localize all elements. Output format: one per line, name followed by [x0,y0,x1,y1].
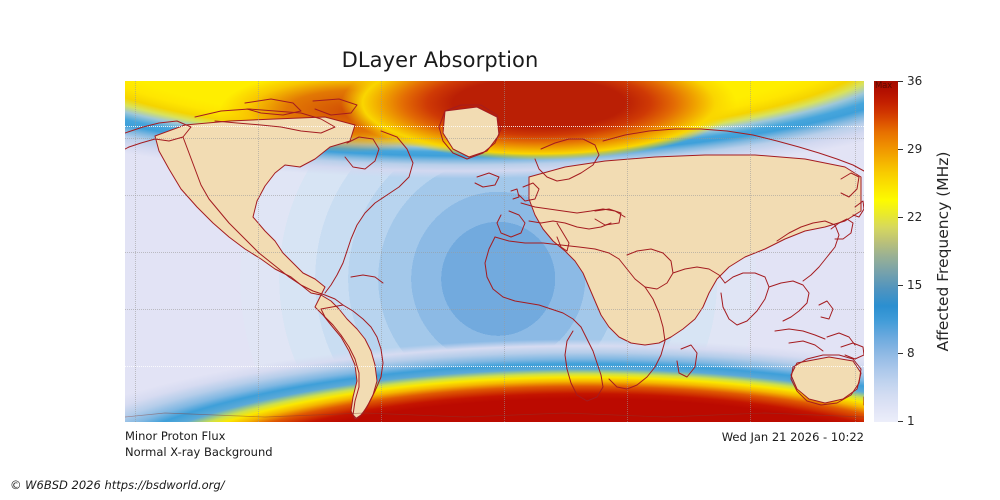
colorbar-gradient [874,81,898,422]
page-title: DLayer Absorption [0,48,880,72]
absorption-map[interactable] [125,81,864,422]
colorbar-tick-label: 22 [907,210,922,224]
colorbar-tick [898,81,903,82]
colorbar-tick-label: 15 [907,278,922,292]
copyright-notice: © W6BSD 2026 https://bsdworld.org/ [10,478,225,492]
coastlines [125,81,864,422]
colorbar-tick-label: 36 [907,74,922,88]
colorbar-axis-label: Affected Frequency (MHz) [930,81,956,422]
colorbar-tick-label: 1 [907,414,915,428]
colorbar-tick [898,285,903,286]
timestamp: Wed Jan 21 2026 - 10:22 [0,430,864,444]
colorbar-max-label: Max [875,82,892,91]
colorbar-tick-label: 8 [907,346,915,360]
xray-background-status: Normal X-ray Background [125,444,273,460]
colorbar-tick [898,353,903,354]
colorbar-tick [898,421,903,422]
colorbar-tick-label: 29 [907,142,922,156]
colorbar-tick [898,149,903,150]
colorbar-tick [898,217,903,218]
colorbar[interactable]: Max 36 29 22 15 8 1 [874,81,898,422]
